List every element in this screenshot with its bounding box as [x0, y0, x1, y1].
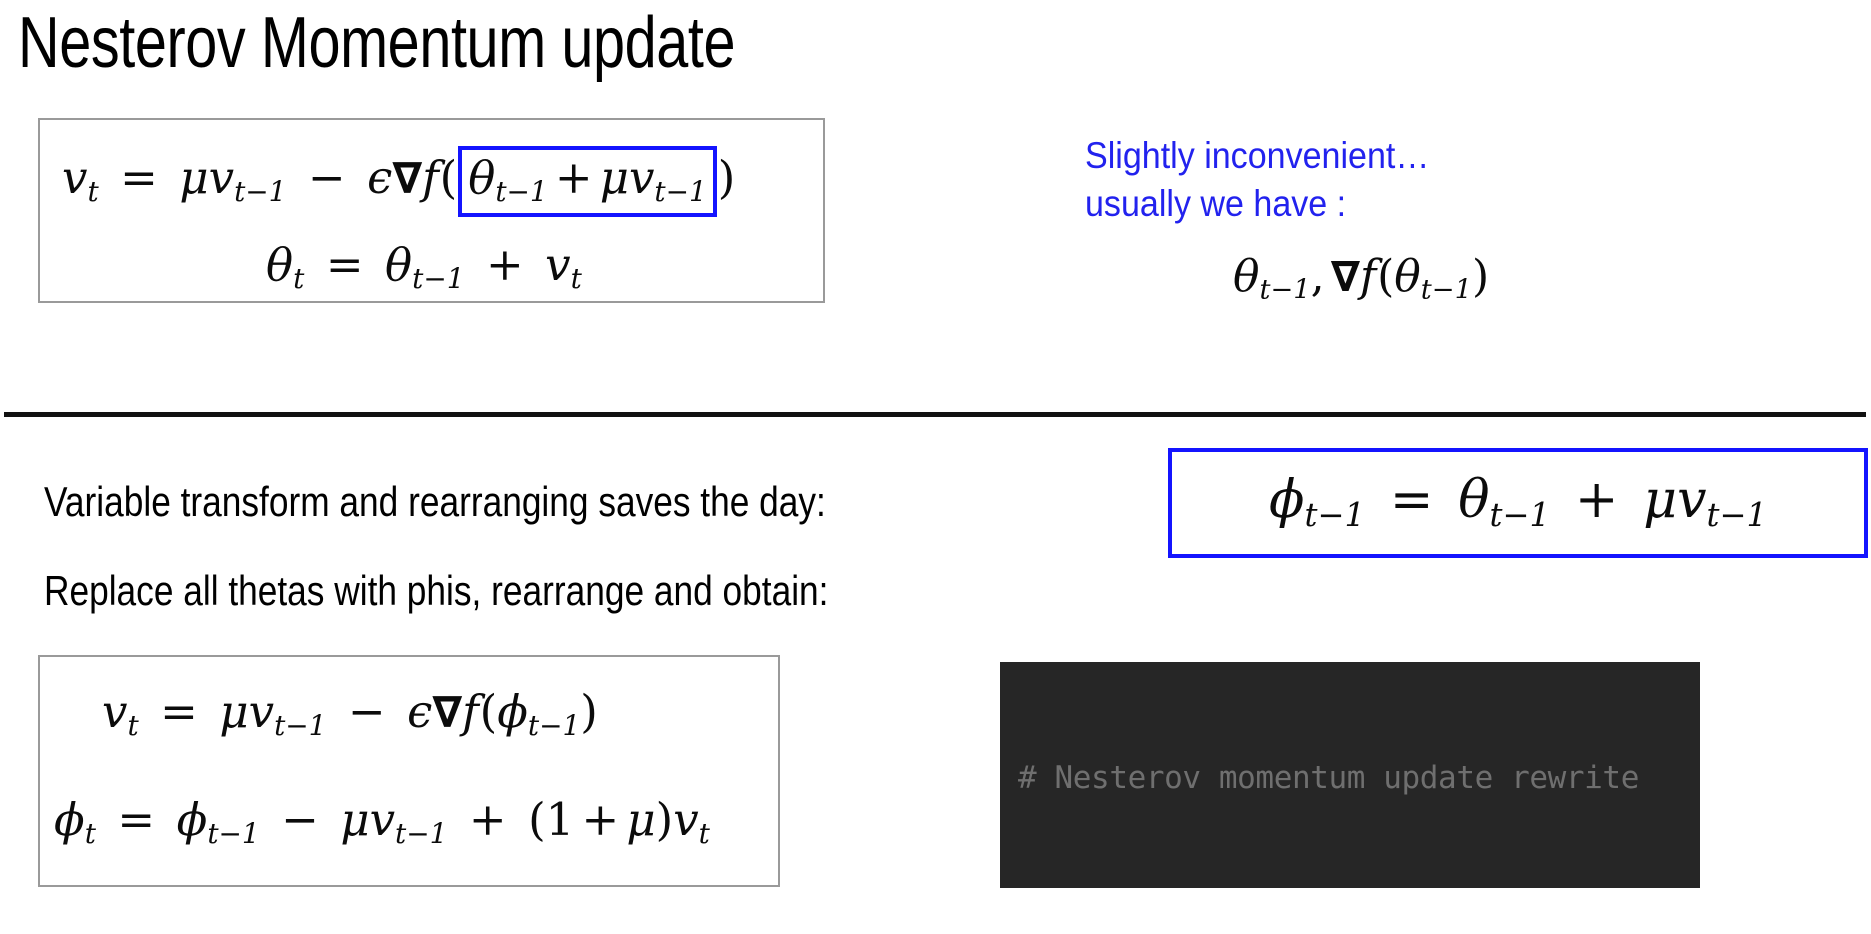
theta-v-sub: t: [571, 262, 582, 295]
eq-function-f: f: [422, 151, 440, 204]
eq-mu-2: μ: [600, 151, 629, 204]
eq-mu: μ: [179, 151, 208, 204]
page-title: Nesterov Momentum update: [18, 6, 735, 82]
phi-theta-sub: t−1: [1490, 496, 1550, 534]
pr-v: v: [370, 793, 395, 846]
pr-plus-2: +: [574, 793, 626, 846]
code-snippet: # Nesterov momentum update rewrite v_pre…: [1000, 662, 1700, 888]
rw-equals: =: [153, 685, 205, 738]
theta-v: v: [545, 238, 570, 291]
usual-theta-sub: t−1: [1260, 275, 1311, 306]
pr-mu-2: μ: [626, 793, 655, 846]
pr-v-2: v: [673, 793, 698, 846]
pr-open-paren: (: [528, 793, 546, 846]
eq-v-prev: v: [209, 151, 234, 204]
rw-minus: −: [341, 685, 393, 738]
usual-theta-2: θ: [1394, 251, 1421, 302]
inconvenience-note: Slightly inconvenient… usually we have :: [1085, 132, 1429, 228]
pr-equals: =: [110, 793, 162, 846]
rw-mu: μ: [219, 685, 248, 738]
theta-plus: +: [479, 238, 531, 291]
rw-close-paren: ): [580, 685, 598, 738]
eq-open-paren: (: [440, 151, 458, 204]
pr-phi-sub: t: [85, 817, 96, 850]
transform-caption: Variable transform and rearranging saves…: [44, 478, 826, 526]
pr-phi: ϕ: [54, 793, 85, 846]
pr-minus: −: [274, 793, 326, 846]
eq-theta-sub: t−1: [495, 175, 547, 208]
usual-theta-2-sub: t−1: [1421, 275, 1472, 306]
phi-mu: μ: [1643, 470, 1677, 530]
phi-lhs: ϕ: [1269, 470, 1304, 530]
eq-close-paren: ): [718, 151, 736, 204]
pr-v-2-sub: t: [699, 817, 710, 850]
equation-phi-definition: ϕt−1 = θt−1 + μvt−1: [1269, 474, 1767, 531]
equation-velocity-rewrite: vt = μvt−1 − ϵ∇f(ϕt−1): [102, 689, 598, 740]
eq-epsilon: ϵ: [367, 151, 392, 204]
section-divider: [4, 412, 1866, 417]
usual-open-paren: (: [1377, 251, 1394, 302]
equation-phi-rewrite: ϕt = ϕt−1 − μvt−1 + (1+μ)vt: [54, 797, 710, 848]
rw-epsilon: ϵ: [407, 685, 432, 738]
usual-comma: ,: [1311, 251, 1331, 302]
eq-v-2-sub: t−1: [654, 175, 706, 208]
equation-theta-update: θt = θt−1 + vt: [266, 242, 582, 293]
pr-phi-2-sub: t−1: [207, 817, 259, 850]
theta-equals: =: [319, 238, 371, 291]
nabla-icon: ∇: [1331, 252, 1360, 301]
equation-usual-quantities: θt−1,∇f(θt−1): [1233, 255, 1489, 304]
eq-v-prev-sub: t−1: [234, 175, 286, 208]
replace-caption: Replace all thetas with phis, rearrange …: [44, 567, 828, 615]
rw-phi: ϕ: [497, 685, 528, 738]
phi-definition-box: ϕt−1 = θt−1 + μvt−1: [1168, 448, 1868, 558]
theta-lhs-sub: t: [293, 262, 304, 295]
phi-v: v: [1677, 470, 1706, 530]
phi-equals: =: [1382, 470, 1442, 530]
pr-v-sub: t−1: [395, 817, 447, 850]
eq-plus: +: [548, 151, 600, 204]
pr-one: 1: [546, 793, 575, 846]
theta-rhs-sub: t−1: [412, 262, 464, 295]
theta-lhs: θ: [266, 238, 293, 291]
eq-minus: −: [301, 151, 353, 204]
rw-v-sub: t: [127, 709, 138, 742]
highlighted-lookahead-term: θt−1+μvt−1: [458, 146, 717, 217]
phi-lhs-sub: t−1: [1304, 496, 1364, 534]
eq-term-v: vt: [62, 151, 99, 204]
note-line-2: usually we have :: [1085, 180, 1429, 228]
nesterov-formula-box: vt = μvt−1 − ϵ∇f(θt−1+μvt−1) θt = θt−1 +…: [38, 118, 825, 303]
usual-close-paren: ): [1472, 251, 1489, 302]
rw-f: f: [462, 685, 480, 738]
pr-phi-2: ϕ: [177, 793, 208, 846]
rw-v-prev: v: [249, 685, 274, 738]
pr-mu: μ: [340, 793, 369, 846]
eq-equals: =: [113, 151, 165, 204]
theta-rhs: θ: [385, 238, 412, 291]
phi-plus: +: [1567, 470, 1627, 530]
pr-close-paren: ): [656, 793, 674, 846]
code-line-vprev: v_prev = v: [1018, 887, 1686, 888]
rewritten-formula-box: vt = μvt−1 − ϵ∇f(ϕt−1) ϕt = ϕt−1 − μvt−1…: [38, 655, 780, 887]
note-line-1: Slightly inconvenient…: [1085, 132, 1429, 180]
equation-velocity-nesterov: vt = μvt−1 − ϵ∇f(θt−1+μvt−1): [62, 146, 735, 217]
eq-v-2: v: [629, 151, 654, 204]
phi-v-sub: t−1: [1706, 496, 1766, 534]
usual-theta: θ: [1233, 251, 1260, 302]
rw-open-paren: (: [480, 685, 498, 738]
code-comment-line: # Nesterov momentum update rewrite: [1018, 757, 1686, 800]
rw-v: v: [102, 685, 127, 738]
pr-plus: +: [462, 793, 514, 846]
rw-v-prev-sub: t−1: [274, 709, 326, 742]
phi-theta: θ: [1458, 470, 1489, 530]
nabla-icon: ∇: [392, 154, 422, 204]
usual-f: f: [1360, 251, 1377, 302]
eq-theta: θ: [468, 151, 495, 204]
nabla-icon: ∇: [432, 688, 462, 738]
rw-phi-sub: t−1: [528, 709, 580, 742]
